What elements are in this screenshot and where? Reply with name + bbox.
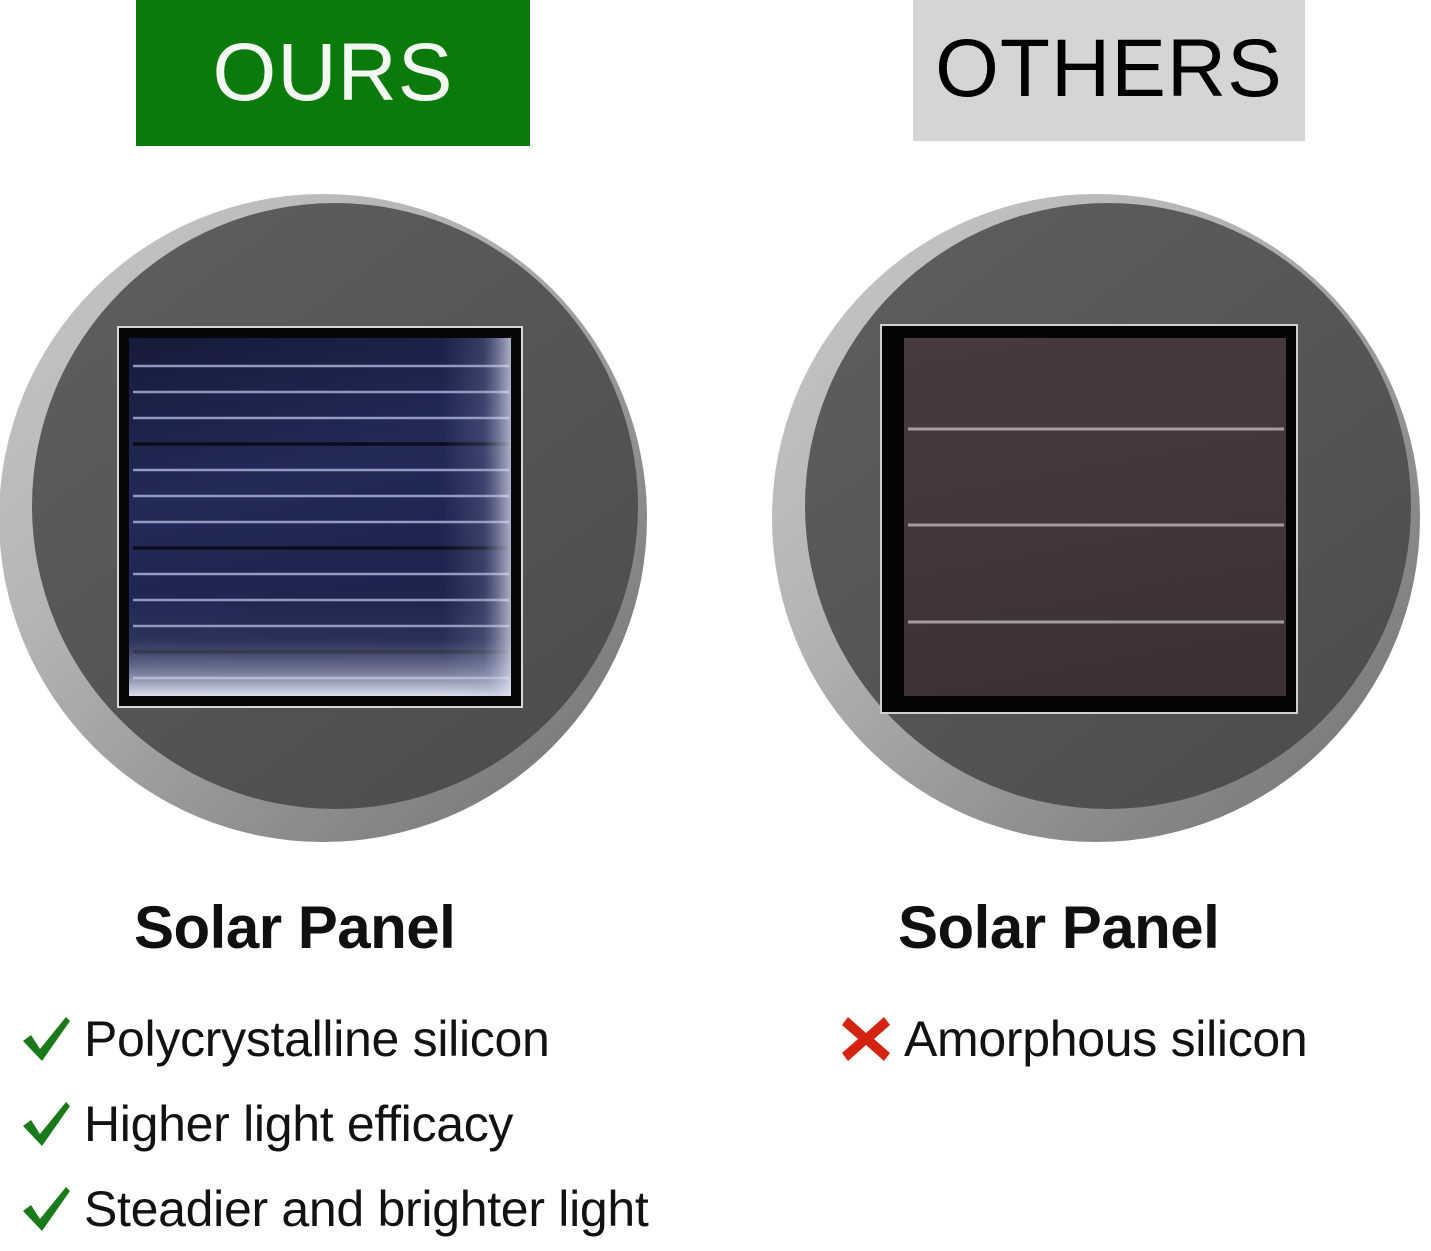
caption-others: Solar Panel	[898, 893, 1219, 962]
caption-ours: Solar Panel	[134, 893, 455, 962]
panel-cell-polycrystalline	[129, 338, 511, 696]
list-item-label: Amorphous silicon	[904, 1014, 1307, 1064]
list-item-label: Higher light efficacy	[84, 1099, 513, 1149]
panel-right-glow	[443, 338, 511, 696]
check-icon	[18, 1181, 74, 1237]
check-icon	[18, 1096, 74, 1152]
cross-icon	[838, 1011, 894, 1067]
badge-others: OTHERS	[913, 0, 1305, 141]
list-item: Amorphous silicon	[838, 996, 1307, 1081]
panel-cell-amorphous	[904, 338, 1286, 696]
list-item: Steadier and brighter light	[18, 1166, 648, 1251]
solar-lamp-others	[770, 192, 1422, 844]
solar-lamp-ours	[0, 192, 649, 844]
badge-ours-label: OURS	[213, 32, 454, 114]
list-item: Polycrystalline silicon	[18, 996, 648, 1081]
feature-list-others: Amorphous silicon	[838, 996, 1307, 1081]
list-item: Higher light efficacy	[18, 1081, 648, 1166]
list-item-label: Polycrystalline silicon	[84, 1014, 550, 1064]
badge-others-label: OTHERS	[935, 28, 1283, 114]
check-icon	[18, 1011, 74, 1067]
list-item-label: Steadier and brighter light	[84, 1184, 648, 1234]
badge-ours: OURS	[136, 0, 530, 146]
feature-list-ours: Polycrystalline silicon Higher light eff…	[18, 996, 648, 1251]
